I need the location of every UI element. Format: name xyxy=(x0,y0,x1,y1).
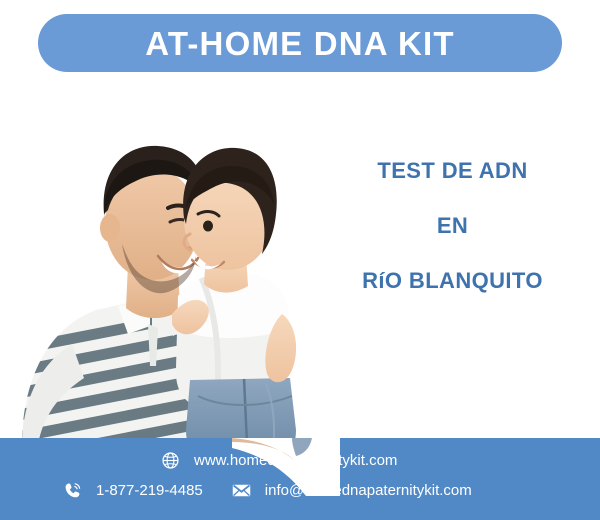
headline-line-3: RíO BLANQUITO xyxy=(320,270,585,292)
photo-overlap-shape xyxy=(232,438,340,496)
family-photo xyxy=(0,78,340,490)
header-banner: AT-HOME DNA KIT xyxy=(38,14,562,72)
headline-line-2: EN xyxy=(320,215,585,237)
phone-icon xyxy=(62,480,83,501)
poster-canvas: AT-HOME DNA KIT xyxy=(0,0,600,520)
photo-footer-overlap xyxy=(232,438,340,496)
child-eye xyxy=(203,221,213,232)
banner-title: AT-HOME DNA KIT xyxy=(145,27,454,60)
headline-block: TEST DE ADN EN RíO BLANQUITO xyxy=(320,160,585,292)
footer-phone-text[interactable]: 1-877-219-4485 xyxy=(96,482,203,499)
footer-phone-item[interactable]: 1-877-219-4485 xyxy=(62,480,203,501)
headline-line-1: TEST DE ADN xyxy=(320,160,585,182)
globe-icon xyxy=(160,450,181,471)
man-ear xyxy=(100,214,120,242)
family-photo-illustration xyxy=(0,78,340,490)
